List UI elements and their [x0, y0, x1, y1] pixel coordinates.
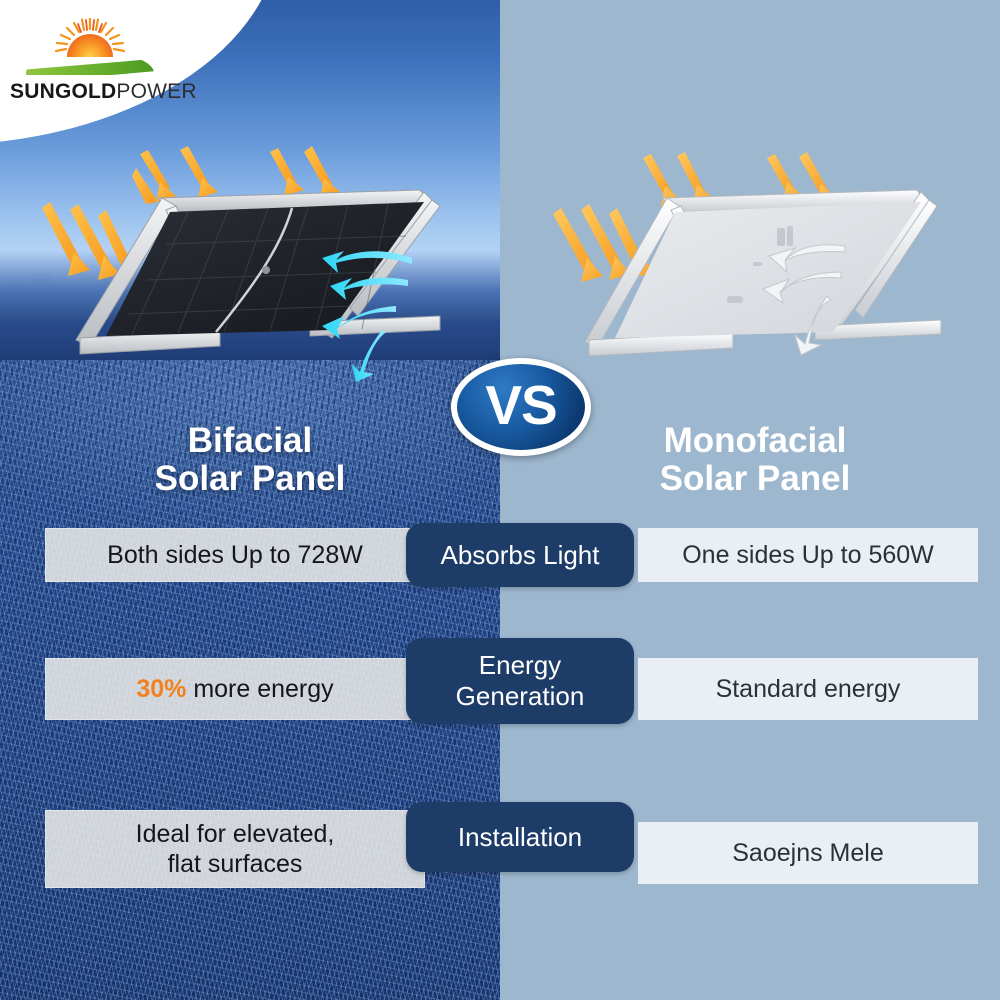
install-left-line1: Ideal for elevated, [136, 820, 335, 848]
feature-label-installation: Installation [406, 802, 634, 872]
feature-energy-line2: Generation [456, 681, 585, 711]
feature-label-energy-generation: Energy Generation [406, 638, 634, 724]
left-value-energy-generation: 30% more energy [45, 658, 425, 720]
right-value-installation: Saoejns Mele [638, 822, 978, 884]
versus-label: VS [485, 378, 556, 433]
install-left-line2: flat surfaces [168, 850, 303, 878]
right-value-energy-generation: Standard energy [638, 658, 978, 720]
comparison-table: Both sides Up to 728W Absorbs Light One … [0, 0, 1000, 1000]
versus-circle: VS [451, 358, 591, 456]
right-value-absorbs-light: One sides Up to 560W [638, 528, 978, 582]
left-value-absorbs-light: Both sides Up to 728W [45, 528, 425, 582]
feature-energy-line1: Energy [479, 650, 561, 680]
versus-badge: VS [451, 358, 591, 456]
feature-label-absorbs-light: Absorbs Light [406, 523, 634, 587]
energy-percent-highlight: 30% [136, 675, 186, 703]
energy-value-rest: more energy [186, 675, 333, 703]
left-value-installation: Ideal for elevated, flat surfaces [45, 810, 425, 888]
comparison-infographic: SUNGOLDPOWER Bifacial Solar Panel Monofa… [0, 0, 1000, 1000]
